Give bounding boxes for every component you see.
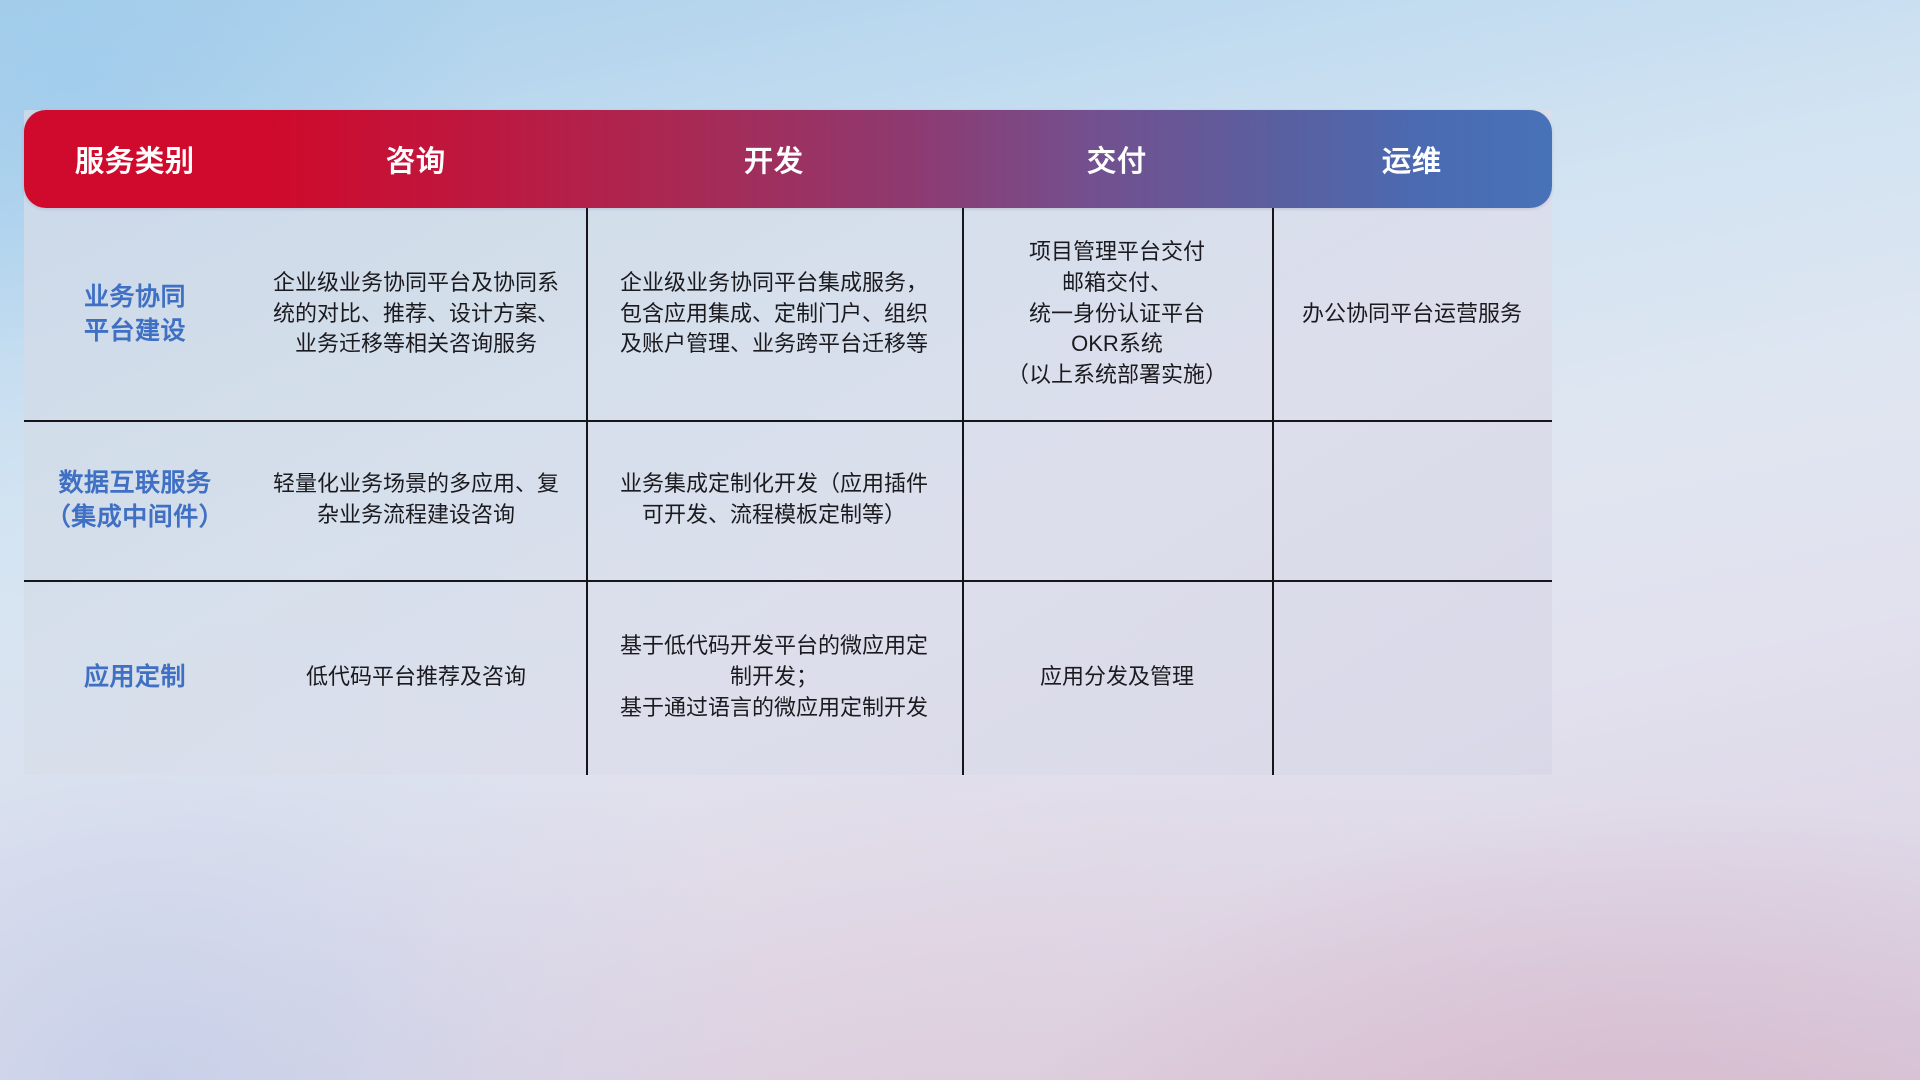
cell-category-2: 应用定制	[24, 580, 246, 775]
cell-consulting-1: 轻量化业务场景的多应用、复 杂业务流程建设咨询	[246, 420, 586, 580]
cell-development-1: 业务集成定制化开发（应用插件 可开发、流程模板定制等）	[586, 420, 962, 580]
cell-development-2: 基于低代码开发平台的微应用定 制开发； 基于通过语言的微应用定制开发	[586, 580, 962, 775]
service-matrix-table: 服务类别 咨询 开发 交付 运维 业务协同 平台建设 企业级业务协同平台及协同系…	[24, 110, 1552, 775]
header-cell-category: 服务类别	[24, 138, 246, 180]
cell-consulting-2: 低代码平台推荐及咨询	[246, 580, 586, 775]
row-divider-1	[24, 420, 1552, 422]
row-divider-2	[24, 580, 1552, 582]
cell-development-0: 企业级业务协同平台集成服务， 包含应用集成、定制门户、组织 及账户管理、业务跨平…	[586, 208, 962, 420]
header-cell-consulting: 咨询	[246, 138, 586, 180]
category-label: 数据互联服务 （集成中间件）	[46, 466, 225, 535]
column-divider-1	[586, 208, 588, 775]
cell-text: 低代码平台推荐及咨询	[306, 662, 526, 693]
cell-operations-2	[1272, 580, 1552, 775]
header-cell-development: 开发	[586, 138, 962, 180]
cell-consulting-0: 企业级业务协同平台及协同系 统的对比、推荐、设计方案、 业务迁移等相关咨询服务	[246, 208, 586, 420]
cell-category-1: 数据互联服务 （集成中间件）	[24, 420, 246, 580]
cell-delivery-1	[962, 420, 1272, 580]
column-divider-2	[962, 208, 964, 775]
cell-text: 应用分发及管理	[1040, 662, 1194, 693]
cell-text: 企业级业务协同平台及协同系 统的对比、推荐、设计方案、 业务迁移等相关咨询服务	[273, 268, 559, 360]
cell-text: 办公协同平台运营服务	[1302, 299, 1522, 330]
cell-text: 项目管理平台交付 邮箱交付、 统一身份认证平台 OKR系统 （以上系统部署实施）	[1007, 237, 1227, 391]
category-label: 业务协同 平台建设	[84, 280, 186, 349]
table-header-row: 服务类别 咨询 开发 交付 运维	[24, 110, 1552, 208]
cell-operations-0: 办公协同平台运营服务	[1272, 208, 1552, 420]
cell-category-0: 业务协同 平台建设	[24, 208, 246, 420]
category-label: 应用定制	[84, 660, 186, 695]
cell-text: 轻量化业务场景的多应用、复 杂业务流程建设咨询	[273, 469, 559, 531]
column-divider-3	[1272, 208, 1274, 775]
table-row: 数据互联服务 （集成中间件） 轻量化业务场景的多应用、复 杂业务流程建设咨询 业…	[24, 420, 1552, 580]
table-row: 业务协同 平台建设 企业级业务协同平台及协同系 统的对比、推荐、设计方案、 业务…	[24, 208, 1552, 420]
cell-text: 业务集成定制化开发（应用插件 可开发、流程模板定制等）	[620, 469, 928, 531]
table-row: 应用定制 低代码平台推荐及咨询 基于低代码开发平台的微应用定 制开发； 基于通过…	[24, 580, 1552, 775]
header-cell-delivery: 交付	[962, 138, 1272, 180]
cell-delivery-2: 应用分发及管理	[962, 580, 1272, 775]
cell-delivery-0: 项目管理平台交付 邮箱交付、 统一身份认证平台 OKR系统 （以上系统部署实施）	[962, 208, 1272, 420]
cell-text: 基于低代码开发平台的微应用定 制开发； 基于通过语言的微应用定制开发	[620, 631, 928, 723]
header-cell-operations: 运维	[1272, 138, 1552, 180]
cell-operations-1	[1272, 420, 1552, 580]
cell-text: 企业级业务协同平台集成服务， 包含应用集成、定制门户、组织 及账户管理、业务跨平…	[620, 268, 928, 360]
